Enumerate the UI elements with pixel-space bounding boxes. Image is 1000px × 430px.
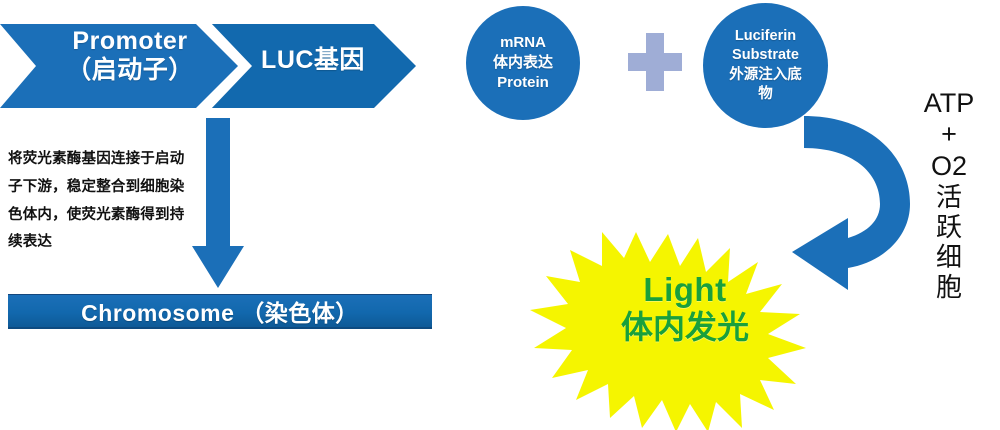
- cofactor-cn-char-3: 细: [912, 242, 986, 272]
- integration-down-arrow: [192, 118, 248, 290]
- cofactor-line-o2: O2: [912, 151, 986, 182]
- promoter-label-cn: （启动子）: [66, 56, 194, 84]
- mrna-bubble-line-2: 体内表达: [493, 53, 553, 73]
- luciferin-bubble-line-4: 物: [758, 85, 773, 104]
- chromosome-bar: Chromosome （染色体）: [8, 294, 432, 329]
- down-arrow-shape: [192, 118, 244, 288]
- mrna-bubble-line-1: mRNA: [500, 33, 546, 53]
- luciferin-substrate-bubble: Luciferin Substrate 外源注入底 物: [703, 3, 828, 128]
- promoter-label: Promoter （启动子）: [40, 27, 220, 85]
- cofactor-cn-char-4: 胞: [912, 272, 986, 302]
- mrna-bubble-line-3: Protein: [497, 73, 549, 93]
- figure-canvas: Promoter （启动子） LUC基因 将荧光素酶基因连接于启动子下游，稳定整…: [0, 0, 1000, 430]
- light-label-cn: 体内发光: [580, 310, 790, 345]
- plus-icon-shape: [628, 33, 682, 91]
- cofactor-line-plus: +: [912, 119, 986, 150]
- promoter-label-en: Promoter: [72, 27, 187, 55]
- mrna-protein-bubble: mRNA 体内表达 Protein: [466, 6, 580, 120]
- luc-gene-label: LUC基因: [228, 46, 398, 75]
- cofactor-cn-char-1: 活: [912, 182, 986, 212]
- luciferin-bubble-line-1: Luciferin: [735, 27, 796, 46]
- luciferin-bubble-line-3: 外源注入底: [729, 66, 802, 85]
- cofactor-line-atp: ATP: [912, 88, 986, 119]
- light-output-label: Light 体内发光: [580, 272, 790, 345]
- chromosome-label: Chromosome （染色体）: [81, 294, 359, 328]
- description-paragraph: 将荧光素酶基因连接于启动子下游，稳定整合到细胞染色体内，使荧光素酶得到持续表达: [8, 146, 194, 257]
- cofactor-cn-char-2: 跃: [912, 212, 986, 242]
- plus-icon: [628, 33, 682, 91]
- luciferin-bubble-line-2: Substrate: [732, 46, 799, 65]
- light-label-en: Light: [580, 272, 790, 308]
- cofactor-text: ATP + O2 活 跃 细 胞: [912, 88, 986, 303]
